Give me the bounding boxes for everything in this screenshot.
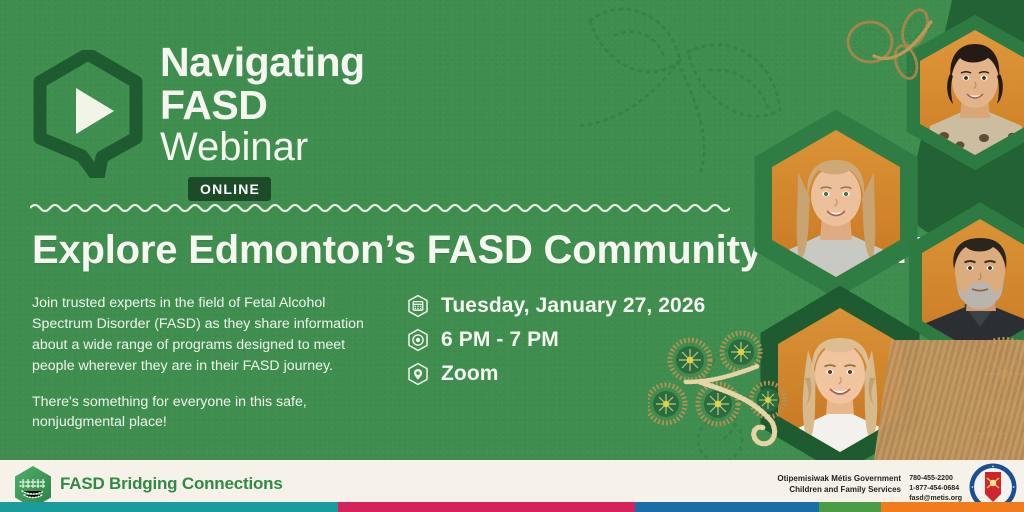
- footer-organization: Otipemisiwak Métis Government Children a…: [777, 474, 901, 496]
- brand-wordmark: Navigating FASD Webinar ONLINE: [160, 42, 420, 201]
- footer-org-line-2: Children and Family Services: [777, 485, 901, 496]
- strip-segment-pink: [338, 502, 635, 512]
- footer-bar: FASD Bridging Connections Otipemisiwak M…: [0, 460, 1024, 512]
- location-pin-icon: [406, 362, 430, 386]
- footer-brand-text: FASD Bridging Connections: [60, 474, 283, 494]
- event-location-text: Zoom: [441, 362, 499, 386]
- online-badge: ONLINE: [188, 177, 271, 201]
- footer-phone: 780-455-2200: [909, 474, 962, 484]
- event-detail-date: Tuesday, January 27, 2026: [406, 289, 705, 323]
- play-hexagon-bubble-icon: [32, 50, 144, 178]
- event-date-text: Tuesday, January 27, 2026: [441, 294, 705, 318]
- brand-line-2: FASD: [160, 85, 420, 126]
- wavy-divider: [30, 200, 730, 214]
- clock-icon: [406, 328, 430, 352]
- strip-segment-teal: [0, 502, 338, 512]
- brand-lockup: Navigating FASD Webinar ONLINE: [32, 46, 362, 196]
- wood-panel-decoration: [874, 340, 1024, 460]
- event-time-text: 6 PM - 7 PM: [441, 328, 559, 352]
- strip-segment-green: [819, 502, 880, 512]
- body-paragraph-2: There's something for everyone in this s…: [32, 392, 382, 434]
- body-paragraph-1: Join trusted experts in the field of Fet…: [32, 293, 382, 377]
- footer-org-line-1: Otipemisiwak Métis Government: [777, 474, 901, 485]
- brand-line-3: Webinar: [160, 127, 420, 167]
- webinar-poster: Navigating FASD Webinar ONLINE Explore E…: [0, 0, 1024, 512]
- brand-line-1: Navigating: [160, 42, 420, 83]
- footer-toll-free: 1-877-454-0684: [909, 484, 962, 494]
- strip-segment-blue: [635, 502, 819, 512]
- event-details: Tuesday, January 27, 2026 6 PM - 7 PM Zo…: [406, 289, 705, 391]
- event-detail-time: 6 PM - 7 PM: [406, 323, 705, 357]
- speaker-photo-upper-left: [748, 112, 924, 312]
- page-title: Explore Edmonton’s FASD Community Suppor…: [32, 228, 752, 273]
- event-detail-location: Zoom: [406, 357, 705, 391]
- footer-color-strip: [0, 502, 1024, 512]
- strip-segment-orange: [881, 502, 1024, 512]
- footer-contact: 780-455-2200 1-877-454-0684 fasd@metis.o…: [909, 474, 962, 504]
- calendar-icon: [406, 294, 430, 318]
- body-copy: Join trusted experts in the field of Fet…: [32, 293, 382, 433]
